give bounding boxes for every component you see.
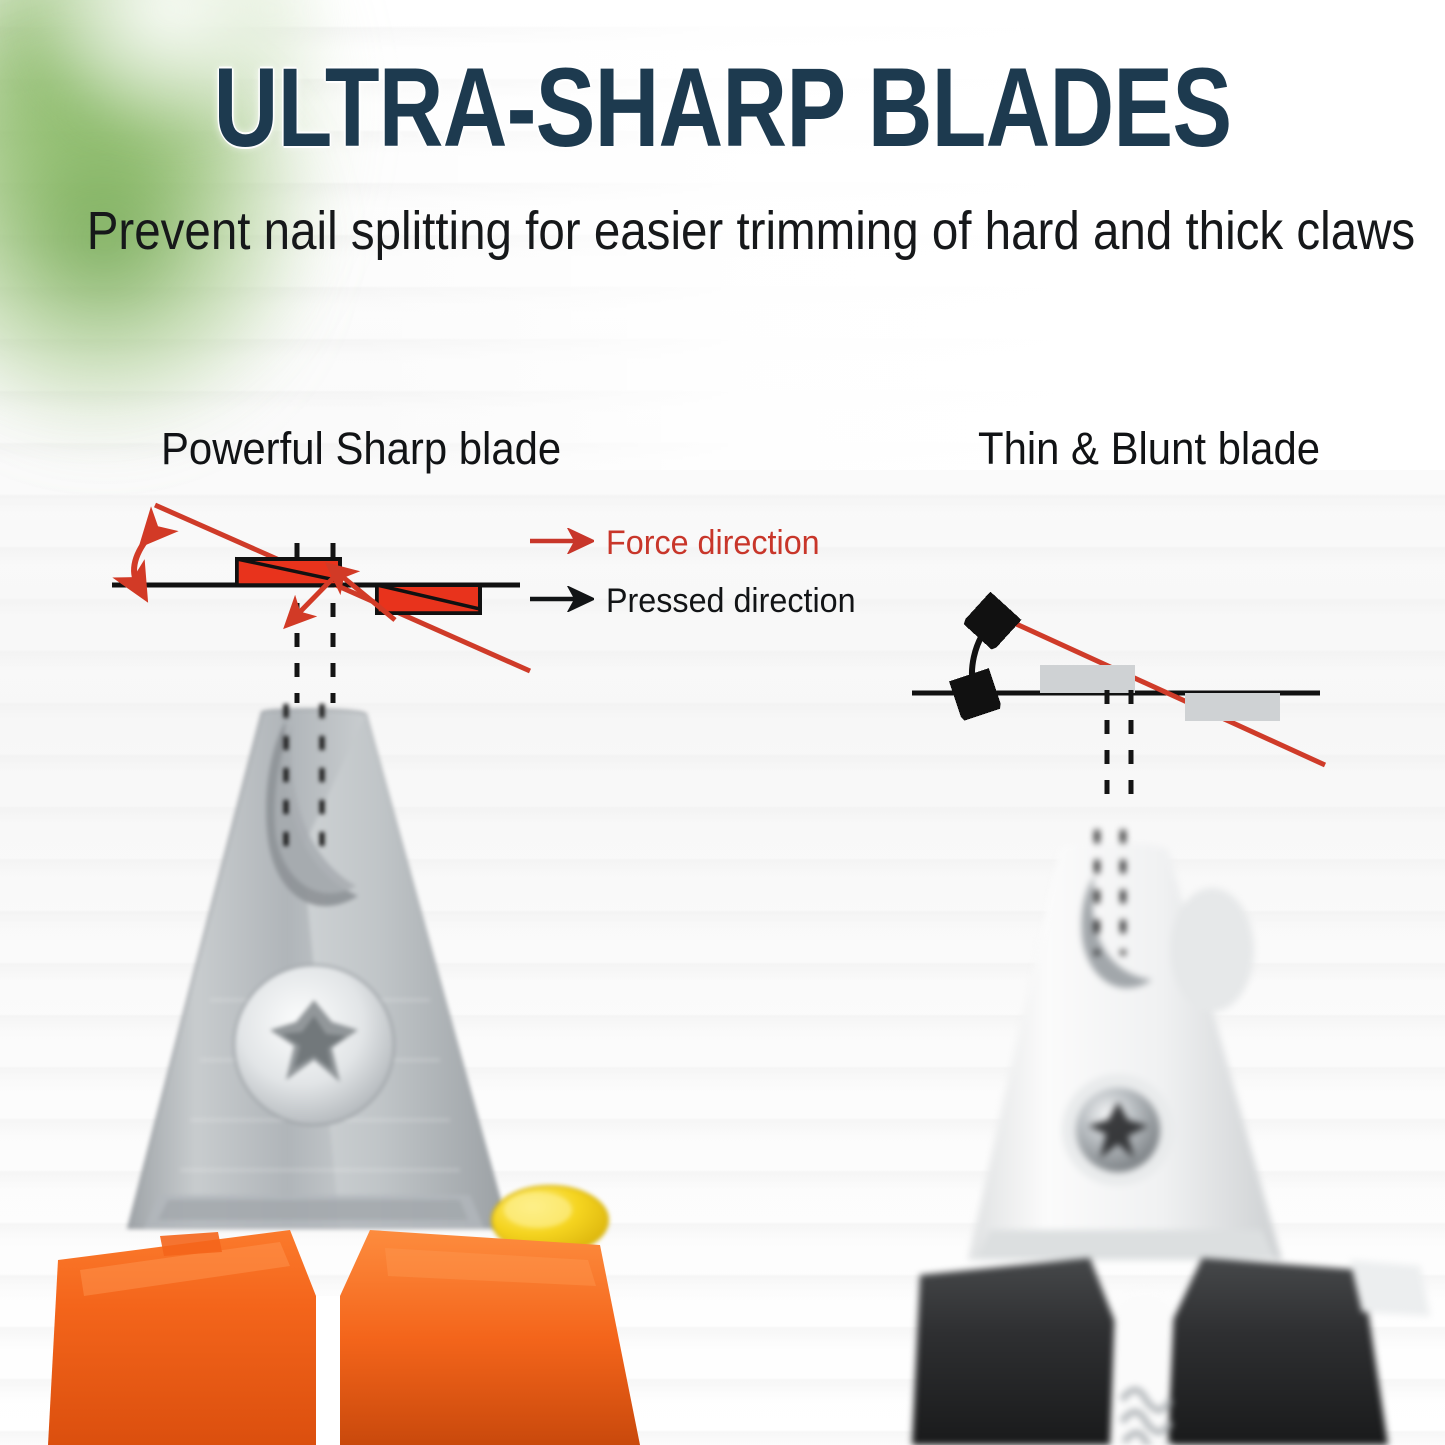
diagram-sharp-blade — [90, 485, 570, 705]
product-photo-sharp-clipper — [40, 700, 660, 1445]
product-photo-blunt-clipper — [910, 830, 1445, 1445]
handle-gap — [316, 1296, 340, 1445]
arrow-right-red-icon — [528, 528, 594, 558]
legend-label-pressed: Pressed direction — [606, 582, 856, 621]
legend-item-pressed: Pressed direction — [528, 576, 838, 626]
blade-block-lower — [1185, 693, 1280, 721]
clipper-head-body — [968, 842, 1282, 1260]
legend-label-force: Force direction — [606, 524, 820, 563]
clipper-handle-orange — [48, 1230, 640, 1445]
handle-left — [912, 1258, 1115, 1445]
clipper-handle-black — [912, 1258, 1430, 1445]
clipper-head-steel — [128, 709, 508, 1228]
side-lug — [1170, 888, 1254, 1012]
legend-item-force: Force direction — [528, 518, 838, 568]
diagram-blunt-blade — [885, 590, 1355, 805]
arrow-right-black-icon — [528, 586, 594, 616]
angle-curved-arrow — [134, 533, 152, 585]
handle-right — [1168, 1258, 1388, 1445]
infographic-page: ULTRA-SHARP BLADES Prevent nail splittin… — [0, 0, 1445, 1445]
dashed-guides — [1107, 690, 1131, 802]
panel-heading-sharp: Powerful Sharp blade — [161, 423, 561, 475]
page-subtitle: Prevent nail splitting for easier trimmi… — [87, 204, 1359, 258]
blade-block-upper-fill — [1040, 665, 1135, 693]
angle-curved-arrow — [972, 620, 993, 693]
page-title: ULTRA-SHARP BLADES — [145, 52, 1301, 164]
panel-heading-blunt: Thin & Blunt blade — [978, 423, 1320, 475]
legend: Force direction Pressed direction — [528, 518, 838, 626]
handle-connector — [1350, 1260, 1430, 1316]
